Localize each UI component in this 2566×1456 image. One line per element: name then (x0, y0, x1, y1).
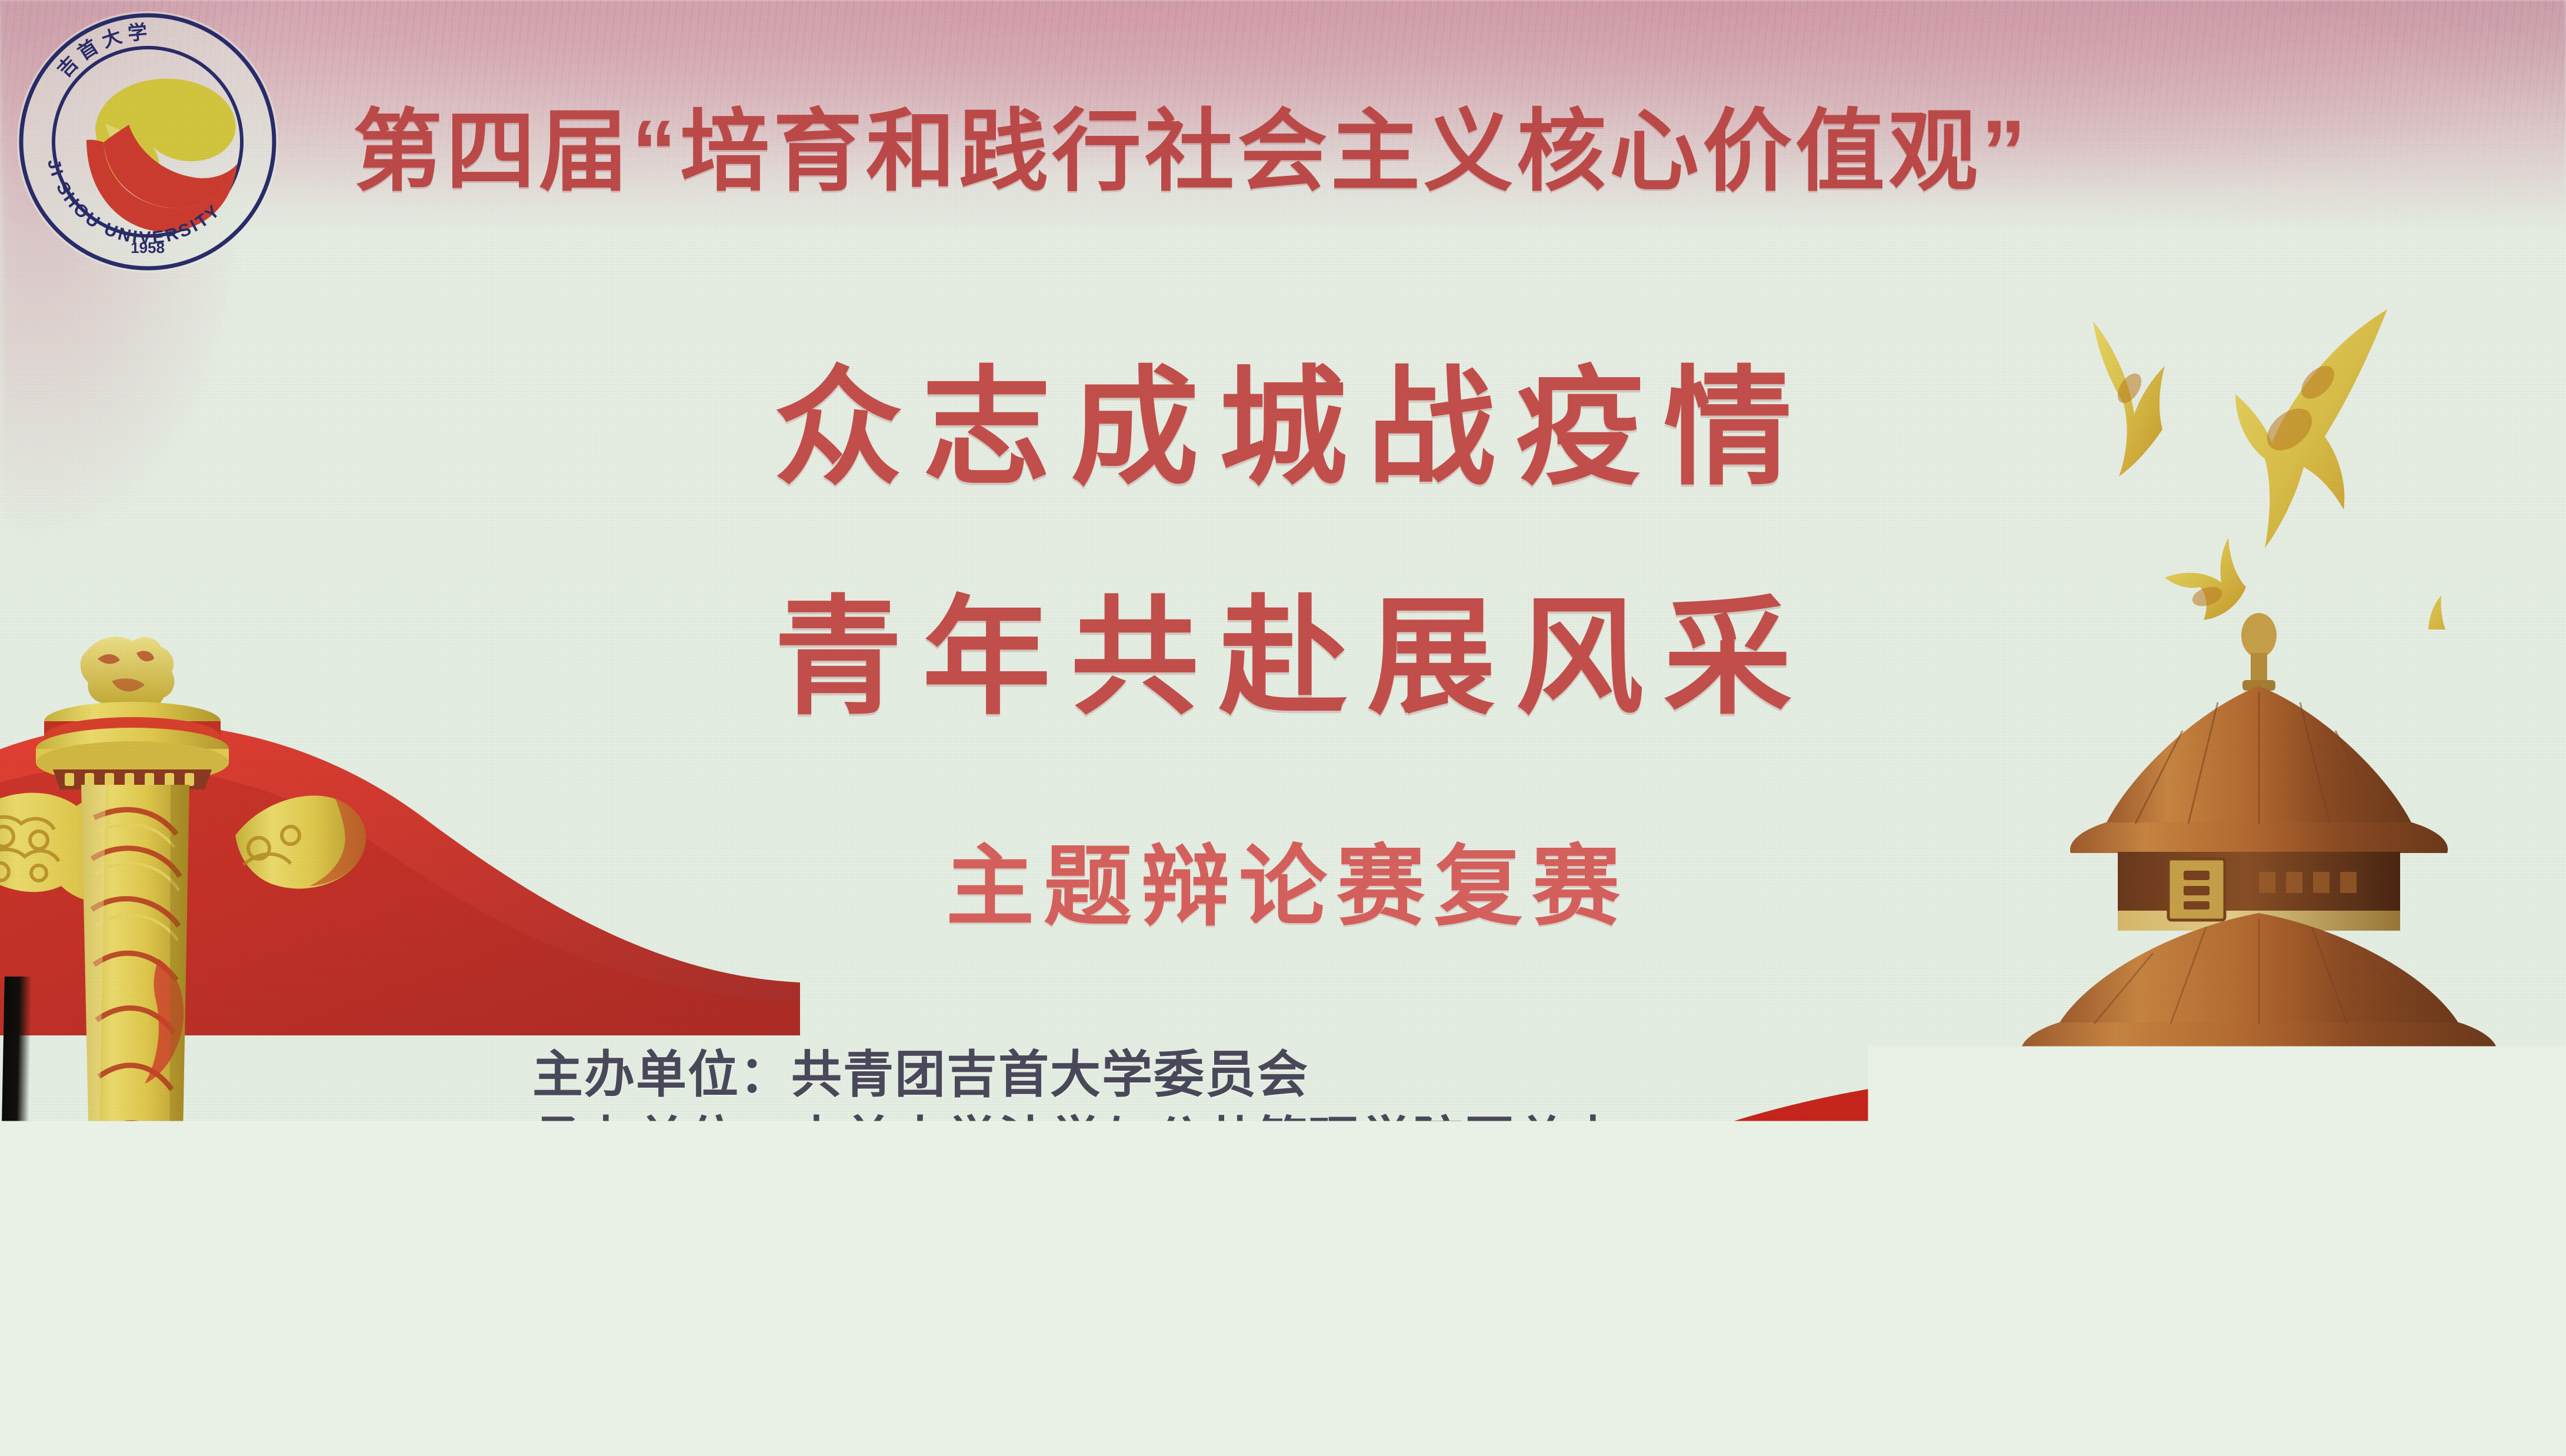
svg-text:1958: 1958 (131, 239, 165, 256)
red-ribbon-waves (0, 856, 2566, 1456)
flying-doves-icon (1988, 253, 2566, 629)
jishou-university-emblem-icon: 吉 首 大 学 JI SHOU UNIVERSITY 1958 (9, 4, 286, 280)
theme-title: 第四届“培育和践行社会主义核心价值观” (353, 107, 2030, 196)
banner-photo: 吉 首 大 学 JI SHOU UNIVERSITY 1958 (0, 0, 2566, 1456)
stone-lion-icon (81, 637, 175, 711)
